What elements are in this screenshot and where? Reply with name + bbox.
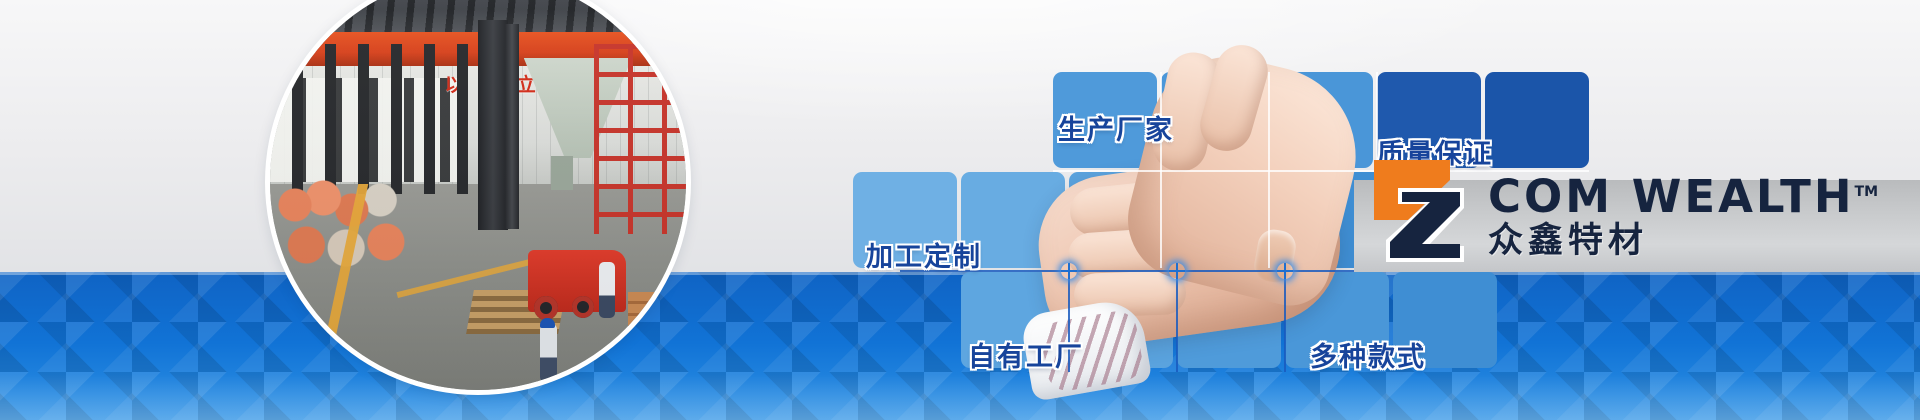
tile-label-production: 生产厂家 bbox=[1058, 108, 1174, 147]
tile-custom-d[interactable] bbox=[1177, 172, 1281, 268]
company-logo[interactable]: COM WEALTHTM 众鑫特材 bbox=[1368, 146, 1920, 266]
brand-name-cn: 众鑫特材 bbox=[1488, 223, 1878, 260]
tile-label-factory: 自有工厂 bbox=[968, 335, 1084, 374]
grid-node-c bbox=[1277, 263, 1293, 279]
tile-label-styles: 多种款式 bbox=[1310, 335, 1426, 374]
grid-node-a bbox=[1061, 263, 1077, 279]
logo-text-block: COM WEALTHTM 众鑫特材 bbox=[1488, 174, 1878, 266]
grid-line-vertical-blue-2 bbox=[1176, 268, 1178, 372]
tile-factory-b[interactable] bbox=[1069, 272, 1173, 368]
tile-production-c[interactable] bbox=[1269, 72, 1373, 168]
brand-name-en: COM WEALTHTM bbox=[1488, 174, 1878, 219]
tile-custom-c[interactable] bbox=[1069, 172, 1173, 268]
grid-line-vertical-blue-3 bbox=[1284, 268, 1286, 372]
promo-banner: 以精立业 bbox=[0, 0, 1920, 420]
com-wealth-z-mark-icon bbox=[1368, 154, 1472, 266]
tile-factory-c[interactable] bbox=[1177, 272, 1281, 368]
brand-name-en-text: COM WEALTH bbox=[1488, 170, 1855, 223]
tile-production-b[interactable] bbox=[1161, 72, 1265, 168]
trademark-symbol: TM bbox=[1855, 184, 1878, 200]
tile-label-custom: 加工定制 bbox=[866, 235, 982, 274]
grid-node-b bbox=[1169, 263, 1185, 279]
